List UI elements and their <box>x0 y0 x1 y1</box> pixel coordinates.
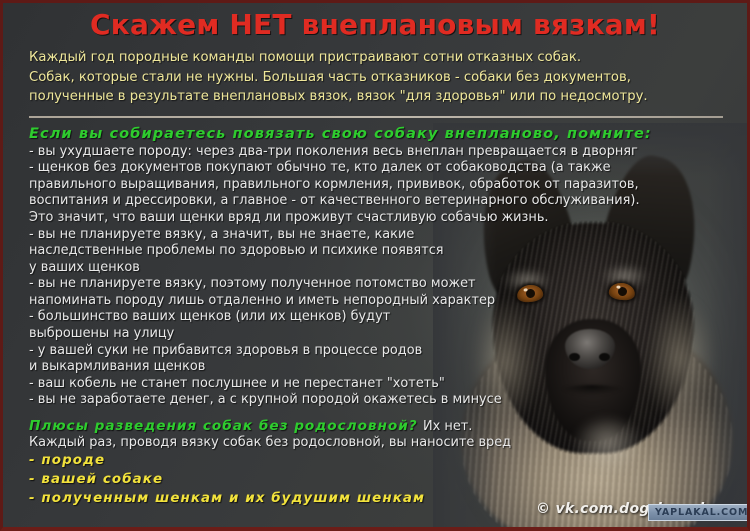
list-item: - вы ухудшаете породу: через два-три пок… <box>29 144 499 161</box>
conclusion-heading: Плюсы разведения собак без родословной? … <box>29 418 747 434</box>
harm-list-item: - вашей собаке <box>29 471 747 489</box>
list-item: и выкармливания щенков <box>29 359 499 376</box>
list-item: - большинство ваших щенков (или их щенко… <box>29 309 499 326</box>
conclusion-block: Плюсы разведения собак без родословной? … <box>3 418 747 509</box>
harm-list-item: - породе <box>29 452 747 470</box>
poster-root: Скажем НЕТ внеплановым вязкам! Каждый го… <box>0 0 750 531</box>
list-item: - вы не планируете вязку, поэтому получе… <box>29 276 499 293</box>
poster-content: Скажем НЕТ внеплановым вязкам! Каждый го… <box>3 3 747 509</box>
conclusion-heading-question: Плюсы разведения собак без родословной? <box>29 418 418 434</box>
list-item: - вы не планируете вязку, а значит, вы н… <box>29 227 499 244</box>
body-list: - вы ухудшаете породу: через два-три пок… <box>29 144 499 409</box>
list-item: - ваш кобель не станет послушнее и не пе… <box>29 376 499 393</box>
conclusion-heading-answer: Их нет. <box>423 419 472 434</box>
poster-title: Скажем НЕТ внеплановым вязкам! <box>3 3 747 39</box>
site-watermark: YAPLAKAL.COM <box>648 504 750 521</box>
list-item: - вы не заработаете денег, а с крупной п… <box>29 392 499 409</box>
list-item: - щенков без документов покупают обычно … <box>29 160 499 177</box>
list-item: Это значит, что ваши щенки вряд ли прожи… <box>29 210 499 227</box>
list-item: правильного выращивания, правильного кор… <box>29 177 499 194</box>
intro-line: полученные в результате внеплановых вязо… <box>29 87 725 106</box>
list-item: воспитания и дрессировки, а главное - от… <box>29 193 499 210</box>
list-item: выброшены на улицу <box>29 326 499 343</box>
section-divider <box>29 116 723 118</box>
intro-paragraph: Каждый год породные команды помощи прист… <box>29 48 725 106</box>
list-item: - у вашей суки не прибавится здоровья в … <box>29 343 499 360</box>
section-heading: Если вы собираетесь повязать свою собаку… <box>29 126 747 142</box>
intro-line: Собак, которые стали не нужны. Большая ч… <box>29 68 725 87</box>
list-item: напоминать породу лишь отдаленно и иметь… <box>29 293 499 310</box>
conclusion-subtitle: Каждый раз, проводя вязку собак без родо… <box>29 435 747 450</box>
list-item: наследственные проблемы по здоровью и пс… <box>29 243 499 260</box>
intro-line: Каждый год породные команды помощи прист… <box>29 48 725 67</box>
list-item: у ваших щенков <box>29 260 499 277</box>
